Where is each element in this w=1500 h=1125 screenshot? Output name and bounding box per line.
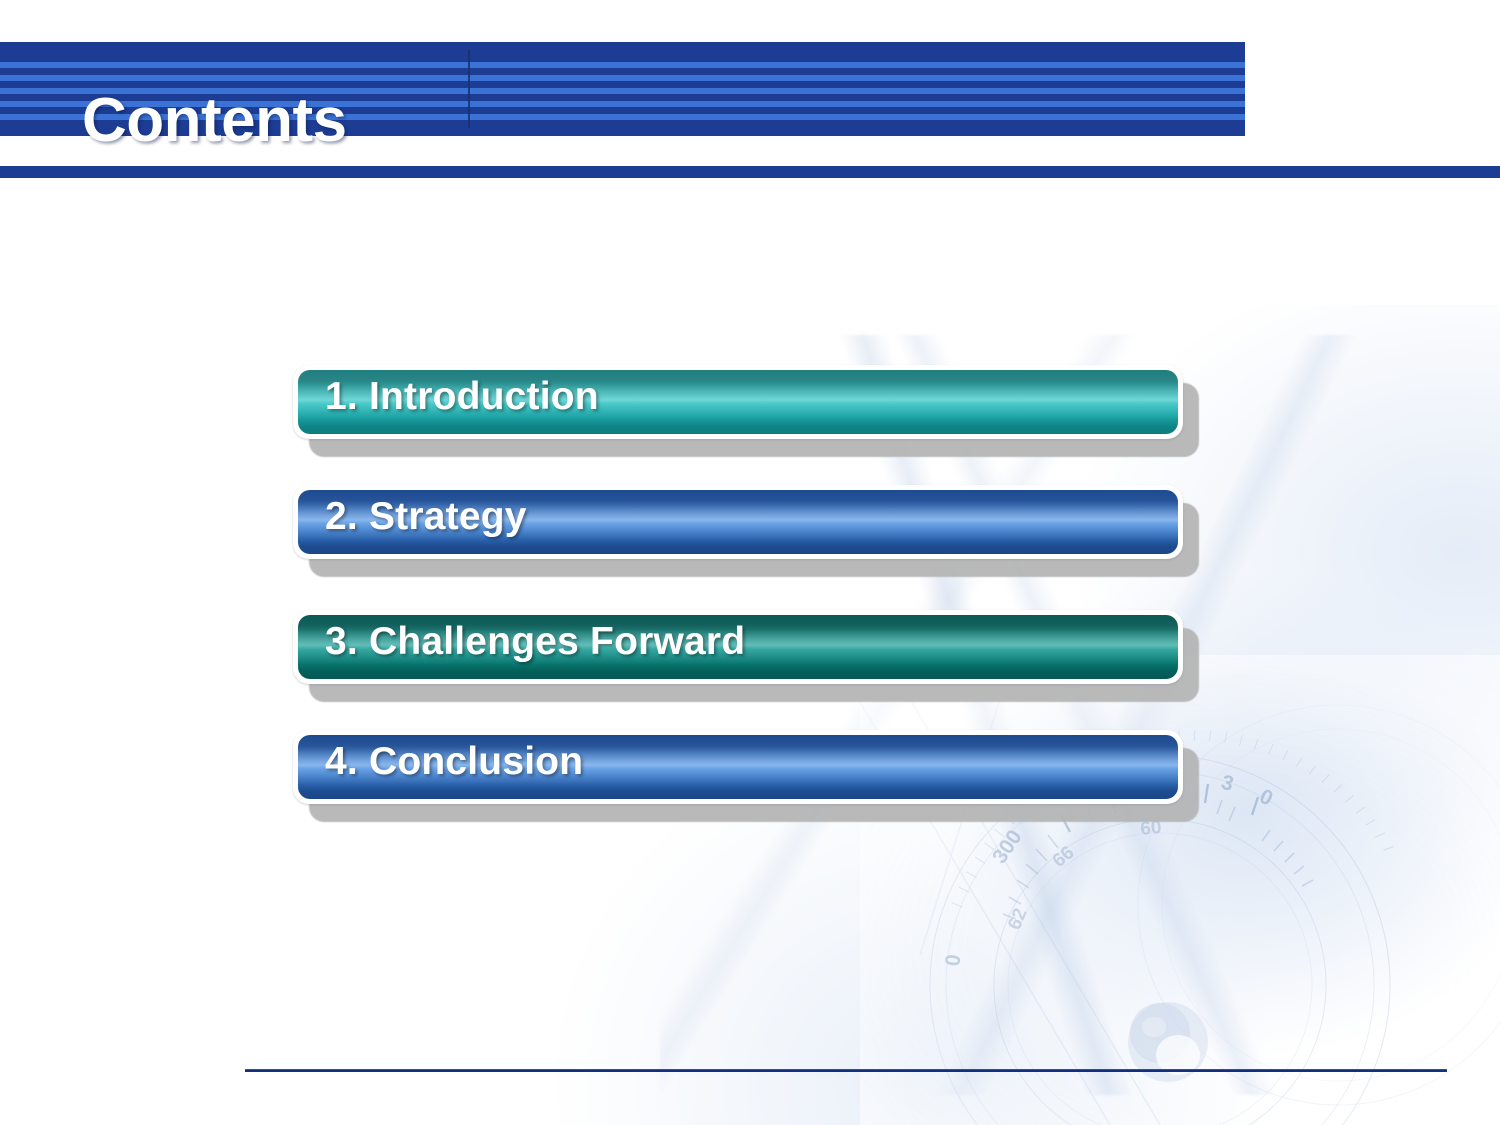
- contents-item-strategy[interactable]: 2. Strategy: [293, 485, 1183, 559]
- bar-frame: 3. Challenges Forward: [293, 610, 1183, 684]
- contents-item-challenges-forward[interactable]: 3. Challenges Forward: [293, 610, 1183, 684]
- contents-item-introduction[interactable]: 1. Introduction: [293, 365, 1183, 439]
- contents-item-conclusion[interactable]: 4. Conclusion: [293, 730, 1183, 804]
- contents-item-label: 4. Conclusion: [325, 730, 583, 794]
- slide-canvas: 330 300 0 3 0 60 66 62: [0, 0, 1500, 1125]
- bar-frame: 1. Introduction: [293, 365, 1183, 439]
- contents-item-label: 3. Challenges Forward: [325, 610, 745, 674]
- bar-frame: 4. Conclusion: [293, 730, 1183, 804]
- contents-item-label: 2. Strategy: [325, 485, 527, 549]
- contents-item-label: 1. Introduction: [325, 365, 599, 429]
- contents-list: 1. Introduction 2. Strategy 3. Challenge…: [0, 0, 1500, 1125]
- footer-divider: [245, 1069, 1447, 1072]
- bar-frame: 2. Strategy: [293, 485, 1183, 559]
